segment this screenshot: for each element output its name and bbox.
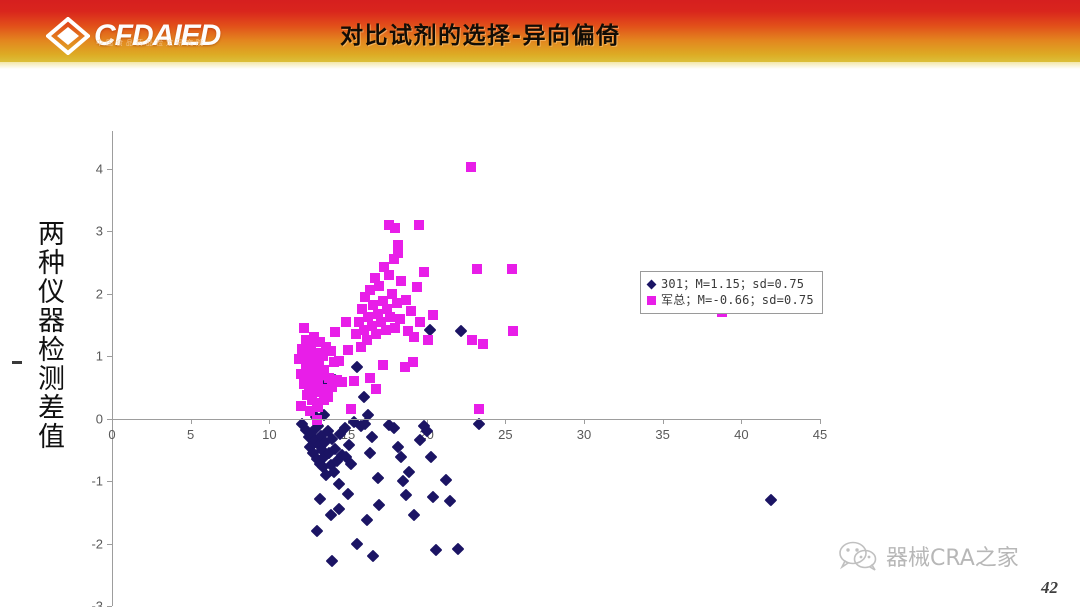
y-axis-tick xyxy=(107,544,112,545)
scatter-point xyxy=(393,240,403,250)
scatter-point xyxy=(310,525,323,538)
scatter-point xyxy=(400,488,413,501)
watermark: 器械CRA之家 xyxy=(838,540,1019,572)
scatter-point xyxy=(390,323,400,333)
scatter-point xyxy=(367,550,380,563)
y-axis-title: 两种仪器检测差值 xyxy=(18,219,62,451)
scatter-point xyxy=(425,451,438,464)
scatter-point xyxy=(332,478,345,491)
scatter-point xyxy=(474,404,484,414)
wechat-icon xyxy=(838,541,878,571)
scatter-point xyxy=(408,357,418,367)
scatter-point xyxy=(334,356,344,366)
scatter-point xyxy=(412,282,422,292)
legend-square-marker-icon xyxy=(647,296,656,305)
scatter-point xyxy=(371,384,381,394)
legend-label-301: 301；M=1.15；sd=0.75 xyxy=(661,277,804,292)
chart-area: 两种仪器检测差值 比对仪器结果 43210-1-2-3 051015202530… xyxy=(0,69,1080,607)
scatter-point xyxy=(427,490,440,503)
scatter-point xyxy=(326,555,339,568)
legend-item-301: 301；M=1.15；sd=0.75 xyxy=(647,276,814,292)
scatter-point xyxy=(414,220,424,230)
scatter-point xyxy=(472,264,482,274)
scatter-point xyxy=(409,332,419,342)
scatter-point xyxy=(428,310,438,320)
scatter-point xyxy=(452,542,465,555)
slide: CFDAIED 中国食品药品检定研究院 对比试剂的选择-异向偏倚 两种仪器检测差… xyxy=(0,0,1080,607)
scatter-point xyxy=(466,162,476,172)
x-axis-tick-label: 40 xyxy=(734,427,748,442)
diamond-logo-icon xyxy=(46,17,90,55)
scatter-point xyxy=(319,395,329,405)
scatter-point xyxy=(361,513,374,526)
scatter-point xyxy=(439,473,452,486)
scatter-point xyxy=(312,415,322,425)
brand-logo: CFDAIED xyxy=(46,14,286,58)
scatter-point xyxy=(507,264,517,274)
scatter-point xyxy=(364,447,377,460)
y-axis-tick-label: -1 xyxy=(91,474,103,489)
y-axis-tick xyxy=(107,294,112,295)
y-axis-tick-label: 2 xyxy=(96,286,103,301)
scatter-point xyxy=(372,472,385,485)
y-axis-tick-label: 4 xyxy=(96,161,103,176)
scatter-point xyxy=(343,345,353,355)
plot-canvas: 43210-1-2-3 051015202530354045 xyxy=(112,131,820,606)
scatter-point xyxy=(508,326,518,336)
x-axis-tick-label: 30 xyxy=(577,427,591,442)
scatter-point xyxy=(765,493,778,506)
scatter-point xyxy=(395,314,405,324)
y-axis-tick-label: -3 xyxy=(91,599,103,607)
scatter-point xyxy=(444,495,457,508)
x-axis-tick-label: 35 xyxy=(655,427,669,442)
scatter-point xyxy=(419,267,429,277)
scatter-point xyxy=(374,281,384,291)
scatter-point xyxy=(313,492,326,505)
scatter-point xyxy=(384,270,394,280)
scatter-point xyxy=(351,537,364,550)
y-axis-tick-label: 1 xyxy=(96,349,103,364)
y-axis-line xyxy=(112,131,113,606)
chart-legend: 301；M=1.15；sd=0.75 军总；M=-0.66；sd=0.75 xyxy=(640,271,823,314)
scatter-point xyxy=(337,377,347,387)
scatter-point xyxy=(396,276,406,286)
y-axis-tick-label: -2 xyxy=(91,536,103,551)
scatter-point xyxy=(326,346,336,356)
scatter-point xyxy=(415,317,425,327)
legend-item-junzong: 军总；M=-0.66；sd=0.75 xyxy=(647,292,814,308)
scatter-point xyxy=(430,543,443,556)
scatter-point xyxy=(478,339,488,349)
x-axis-tick-label: 10 xyxy=(262,427,276,442)
scatter-point xyxy=(390,223,400,233)
page-number: 42 xyxy=(1041,578,1058,598)
scatter-point xyxy=(395,451,408,464)
scatter-point xyxy=(341,317,351,327)
watermark-text: 器械CRA之家 xyxy=(886,540,1019,572)
scatter-point xyxy=(392,440,405,453)
scatter-point xyxy=(330,327,340,337)
scatter-point xyxy=(408,509,421,522)
header-banner: CFDAIED 中国食品药品检定研究院 对比试剂的选择-异向偏倚 xyxy=(0,0,1080,62)
scatter-point xyxy=(299,323,309,333)
x-axis-tick-label: 0 xyxy=(108,427,115,442)
y-axis-tick xyxy=(107,231,112,232)
legend-diamond-marker-icon xyxy=(647,279,657,289)
scatter-point xyxy=(401,295,411,305)
legend-label-junzong: 军总；M=-0.66；sd=0.75 xyxy=(661,293,814,308)
slide-title: 对比试剂的选择-异向偏倚 xyxy=(340,16,621,50)
scatter-point xyxy=(365,431,378,444)
scatter-point xyxy=(342,487,355,500)
scatter-point xyxy=(455,325,468,338)
scatter-point xyxy=(373,498,386,511)
header-underline xyxy=(0,62,1080,69)
brand-logo-subtext: 中国食品药品检定研究院 xyxy=(96,38,206,48)
scatter-point xyxy=(406,306,416,316)
scatter-point xyxy=(365,373,375,383)
x-axis-tick-label: 45 xyxy=(813,427,827,442)
y-axis-tick-label: 3 xyxy=(96,224,103,239)
y-axis-tick xyxy=(107,169,112,170)
scatter-point xyxy=(346,404,356,414)
scatter-point xyxy=(378,360,388,370)
y-axis-tick-label: 0 xyxy=(96,411,103,426)
scatter-point xyxy=(351,361,364,374)
y-axis-tick xyxy=(107,481,112,482)
x-axis-tick-label: 5 xyxy=(187,427,194,442)
y-axis-tick xyxy=(107,356,112,357)
scatter-point xyxy=(349,376,359,386)
scatter-point xyxy=(357,390,370,403)
scatter-point xyxy=(423,335,433,345)
scatter-point xyxy=(467,335,477,345)
x-axis-tick-label: 25 xyxy=(498,427,512,442)
x-axis-line xyxy=(112,419,820,420)
x-axis-tick xyxy=(820,419,821,424)
